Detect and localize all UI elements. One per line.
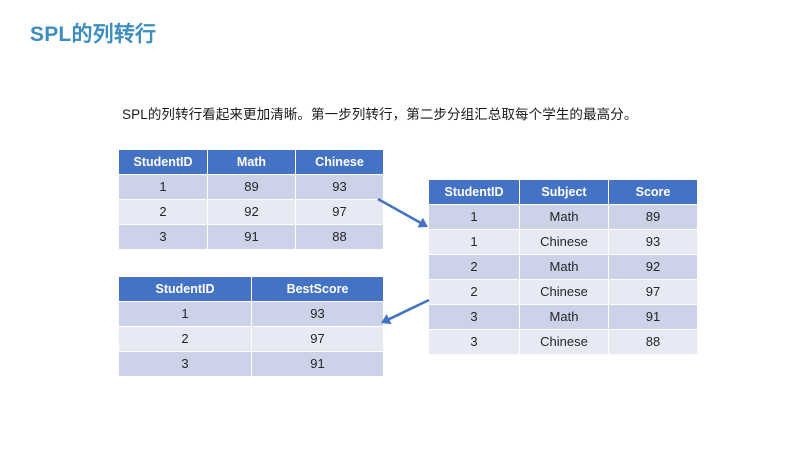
cell-chinese: 93	[296, 175, 384, 200]
cell-studentid: 1	[119, 302, 252, 327]
cell-math: 89	[208, 175, 296, 200]
cell-studentid: 3	[429, 305, 520, 330]
table-row: 391	[119, 352, 384, 377]
table-row: 193	[119, 302, 384, 327]
cell-subject: Chinese	[520, 330, 609, 355]
table-row: 297	[119, 327, 384, 352]
table-row: 18993	[119, 175, 384, 200]
table-row: 29297	[119, 200, 384, 225]
cell-studentid: 2	[119, 200, 208, 225]
unpivot-table: StudentIDSubjectScore 1Math891Chinese932…	[428, 180, 698, 355]
table-header-row: StudentIDSubjectScore	[429, 180, 698, 205]
table-header-row: StudentIDMathChinese	[119, 150, 384, 175]
slide-canvas: SPL的列转行 SPL的列转行看起来更加清晰。第一步列转行，第二步分组汇总取每个…	[0, 0, 800, 450]
arrow-source-to-unpivot-head	[417, 218, 428, 228]
column-header-studentid: StudentID	[429, 180, 520, 205]
table-row: 3Math91	[429, 305, 698, 330]
table-row: 39188	[119, 225, 384, 250]
cell-studentid: 1	[429, 205, 520, 230]
best-score-table: StudentIDBestScore 193297391	[118, 277, 384, 377]
cell-subject: Math	[520, 205, 609, 230]
cell-studentid: 2	[119, 327, 252, 352]
cell-math: 92	[208, 200, 296, 225]
cell-studentid: 2	[429, 255, 520, 280]
column-header-score: Score	[609, 180, 698, 205]
cell-subject: Chinese	[520, 230, 609, 255]
column-header-studentid: StudentID	[119, 277, 252, 302]
column-header-subject: Subject	[520, 180, 609, 205]
column-header-chinese: Chinese	[296, 150, 384, 175]
cell-chinese: 97	[296, 200, 384, 225]
cell-score: 88	[609, 330, 698, 355]
source-table: StudentIDMathChinese 189932929739188	[118, 150, 384, 250]
cell-studentid: 1	[429, 230, 520, 255]
table-row: 1Math89	[429, 205, 698, 230]
column-header-studentid: StudentID	[119, 150, 208, 175]
cell-studentid: 2	[429, 280, 520, 305]
cell-score: 91	[609, 305, 698, 330]
table-row: 2Chinese97	[429, 280, 698, 305]
cell-chinese: 88	[296, 225, 384, 250]
cell-studentid: 1	[119, 175, 208, 200]
column-header-math: Math	[208, 150, 296, 175]
cell-score: 97	[609, 280, 698, 305]
cell-studentid: 3	[119, 352, 252, 377]
column-header-bestscore: BestScore	[252, 277, 384, 302]
slide-body-text: SPL的列转行看起来更加清晰。第一步列转行，第二步分组汇总取每个学生的最高分。	[122, 103, 637, 123]
arrow-source-to-unpivot-shaft	[378, 199, 421, 223]
cell-math: 91	[208, 225, 296, 250]
cell-score: 93	[609, 230, 698, 255]
cell-studentid: 3	[119, 225, 208, 250]
page-title: SPL的列转行	[30, 18, 156, 48]
table-row: 1Chinese93	[429, 230, 698, 255]
table-row: 3Chinese88	[429, 330, 698, 355]
cell-studentid: 3	[429, 330, 520, 355]
arrow-unpivot-to-best-shaft	[388, 300, 429, 320]
cell-bestscore: 91	[252, 352, 384, 377]
cell-subject: Math	[520, 305, 609, 330]
table-row: 2Math92	[429, 255, 698, 280]
table-header-row: StudentIDBestScore	[119, 277, 384, 302]
cell-score: 89	[609, 205, 698, 230]
cell-subject: Chinese	[520, 280, 609, 305]
cell-bestscore: 93	[252, 302, 384, 327]
cell-score: 92	[609, 255, 698, 280]
cell-bestscore: 97	[252, 327, 384, 352]
cell-subject: Math	[520, 255, 609, 280]
